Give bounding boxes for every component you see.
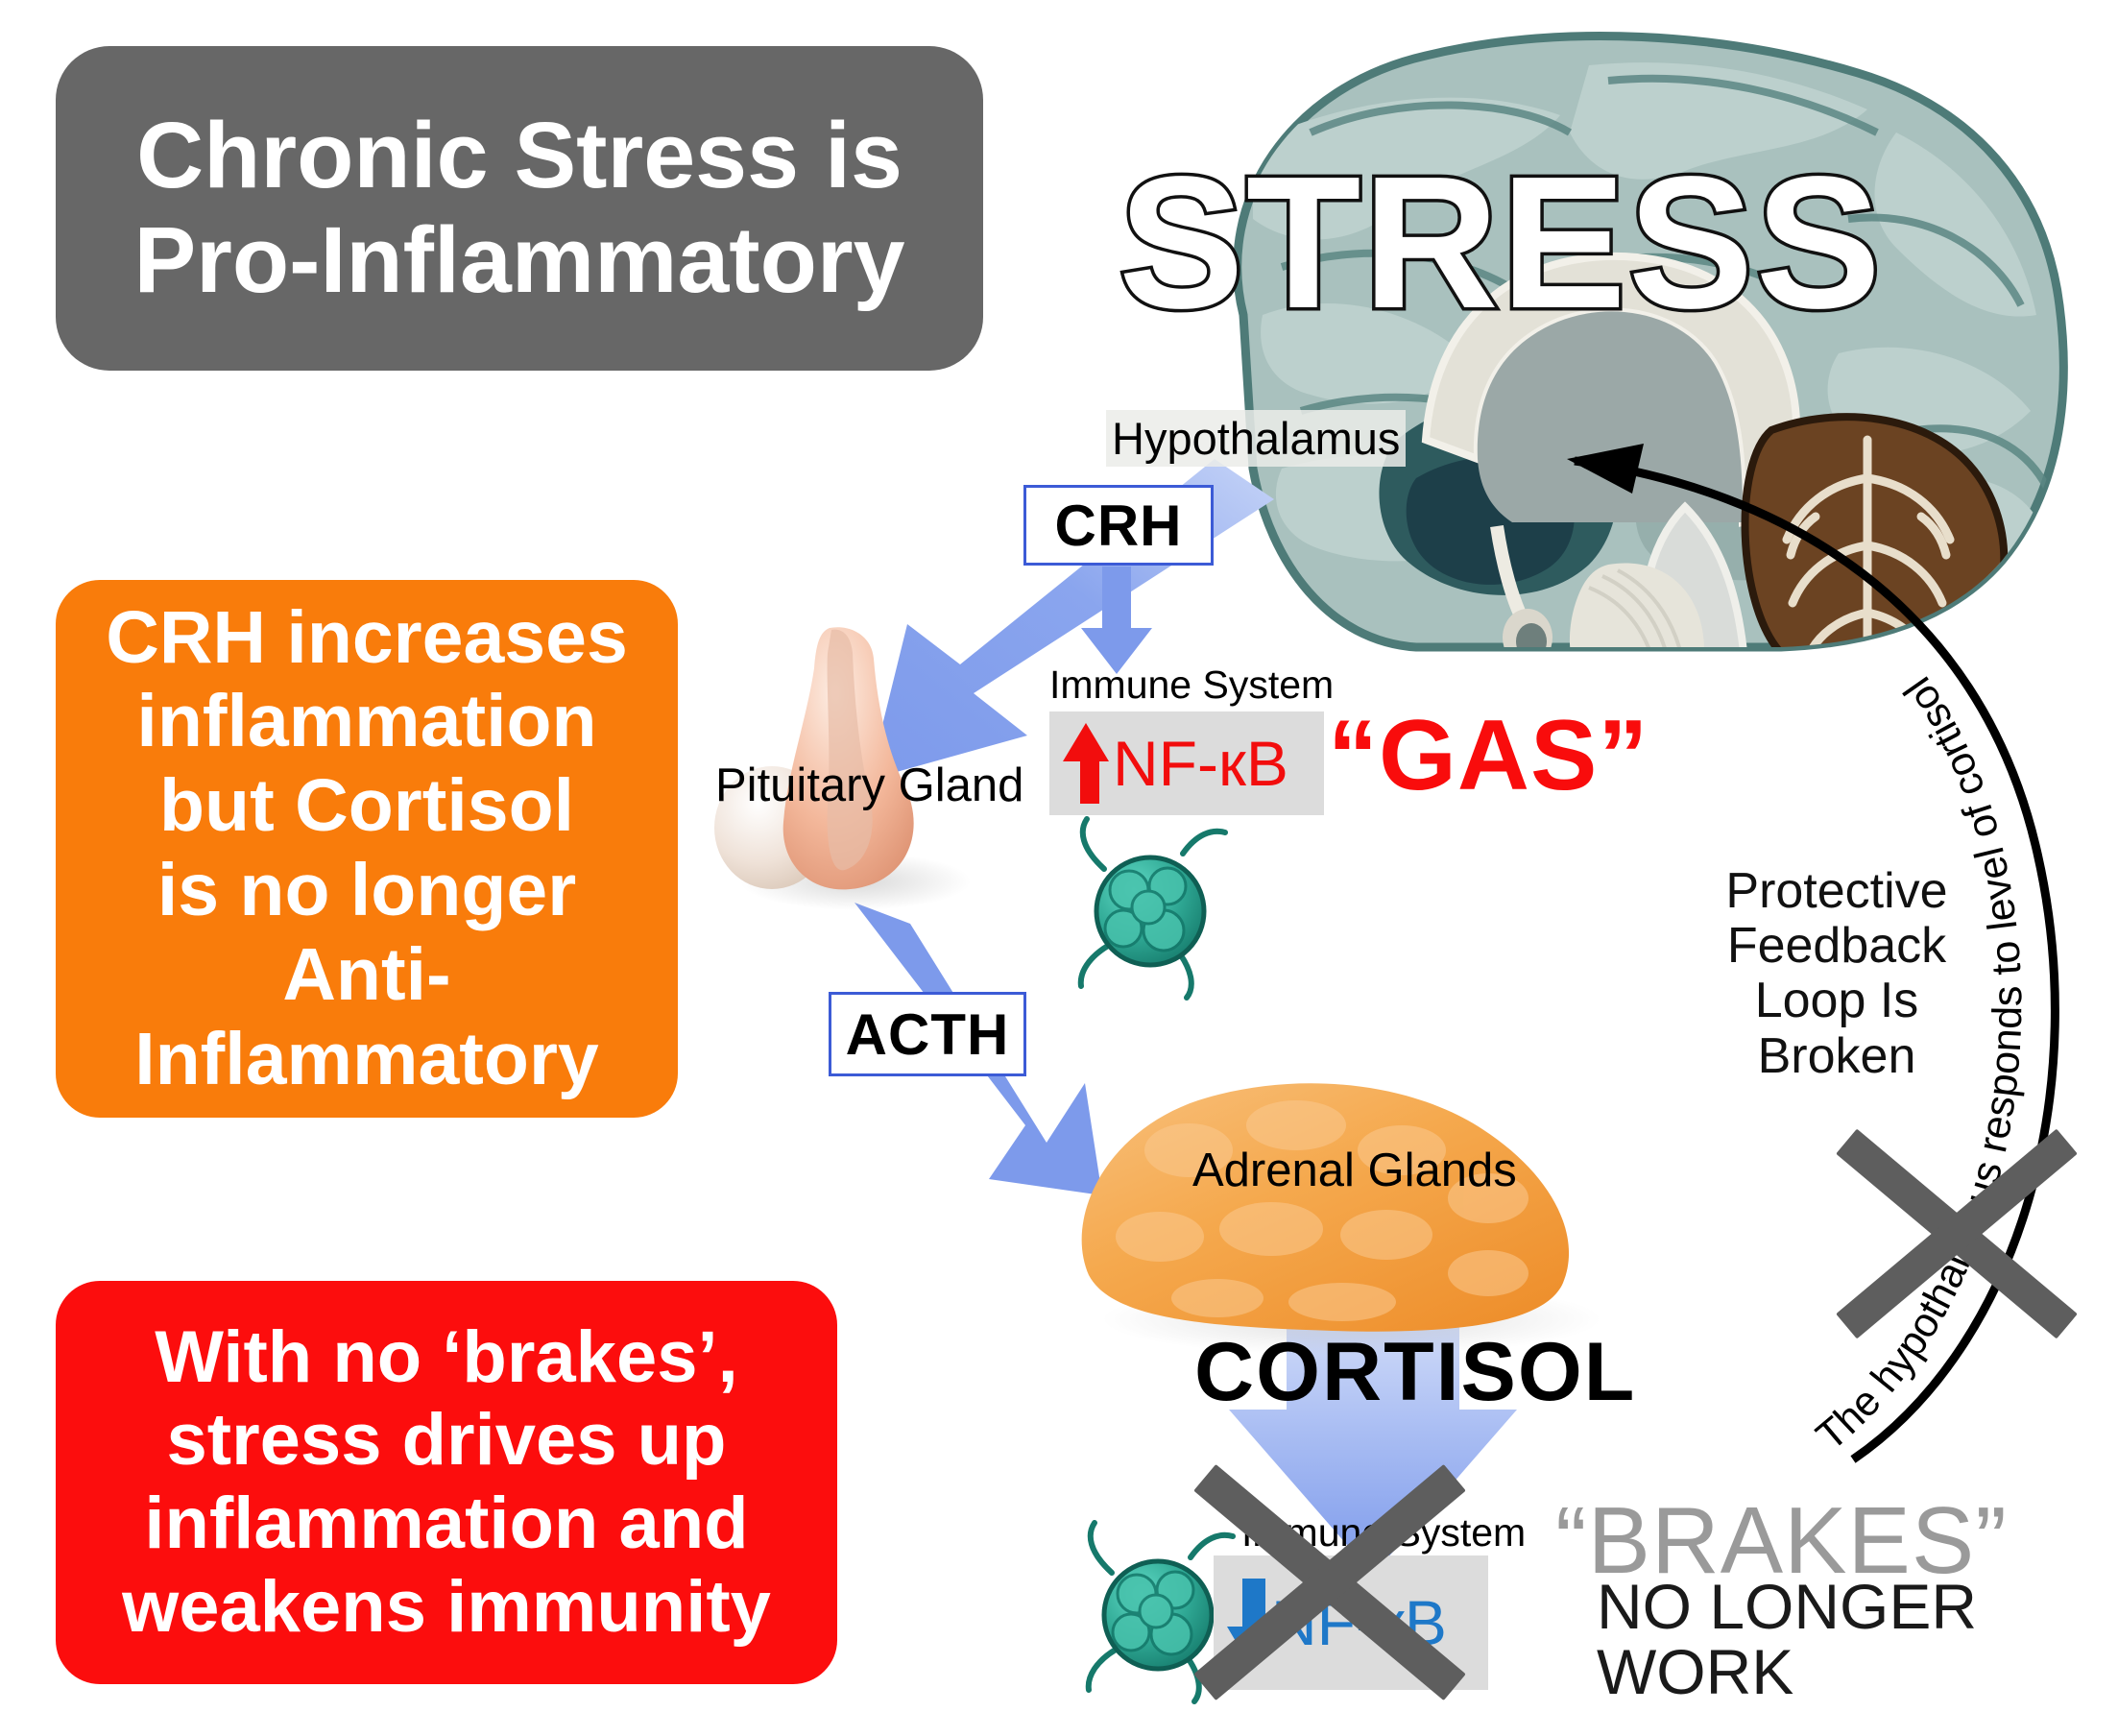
- acth-tag: ACTH: [829, 992, 1026, 1076]
- label-adrenal-glands: Adrenal Glands: [1192, 1144, 1517, 1197]
- nfkb-increase-panel: NF-кB: [1049, 711, 1324, 815]
- up-arrow-icon: [1063, 723, 1109, 761]
- nfkb-x-mark: [1195, 1448, 1464, 1717]
- no-longer-work-annotation: NO LONGER WORK: [1597, 1575, 1977, 1705]
- immune-cell-top-icon: [1066, 811, 1248, 1003]
- cortisol-label: CORTISOL: [1194, 1325, 1636, 1420]
- up-arrow-stem-icon: [1080, 758, 1099, 804]
- feedback-x-mark: [1837, 1114, 2077, 1354]
- nfkb-up-text: NF-кB: [1113, 732, 1288, 795]
- crh-tag: CRH: [1023, 485, 1214, 566]
- feedback-broken-note: Protective Feedback Loop Is Broken: [1707, 864, 1966, 1084]
- label-immune-system-top: Immune System: [1049, 663, 1334, 708]
- gas-annotation: “GAS”: [1328, 699, 1649, 813]
- label-hypothalamus: Hypothalamus: [1106, 410, 1406, 467]
- label-pituitary-gland: Pituitary Gland: [715, 759, 1023, 812]
